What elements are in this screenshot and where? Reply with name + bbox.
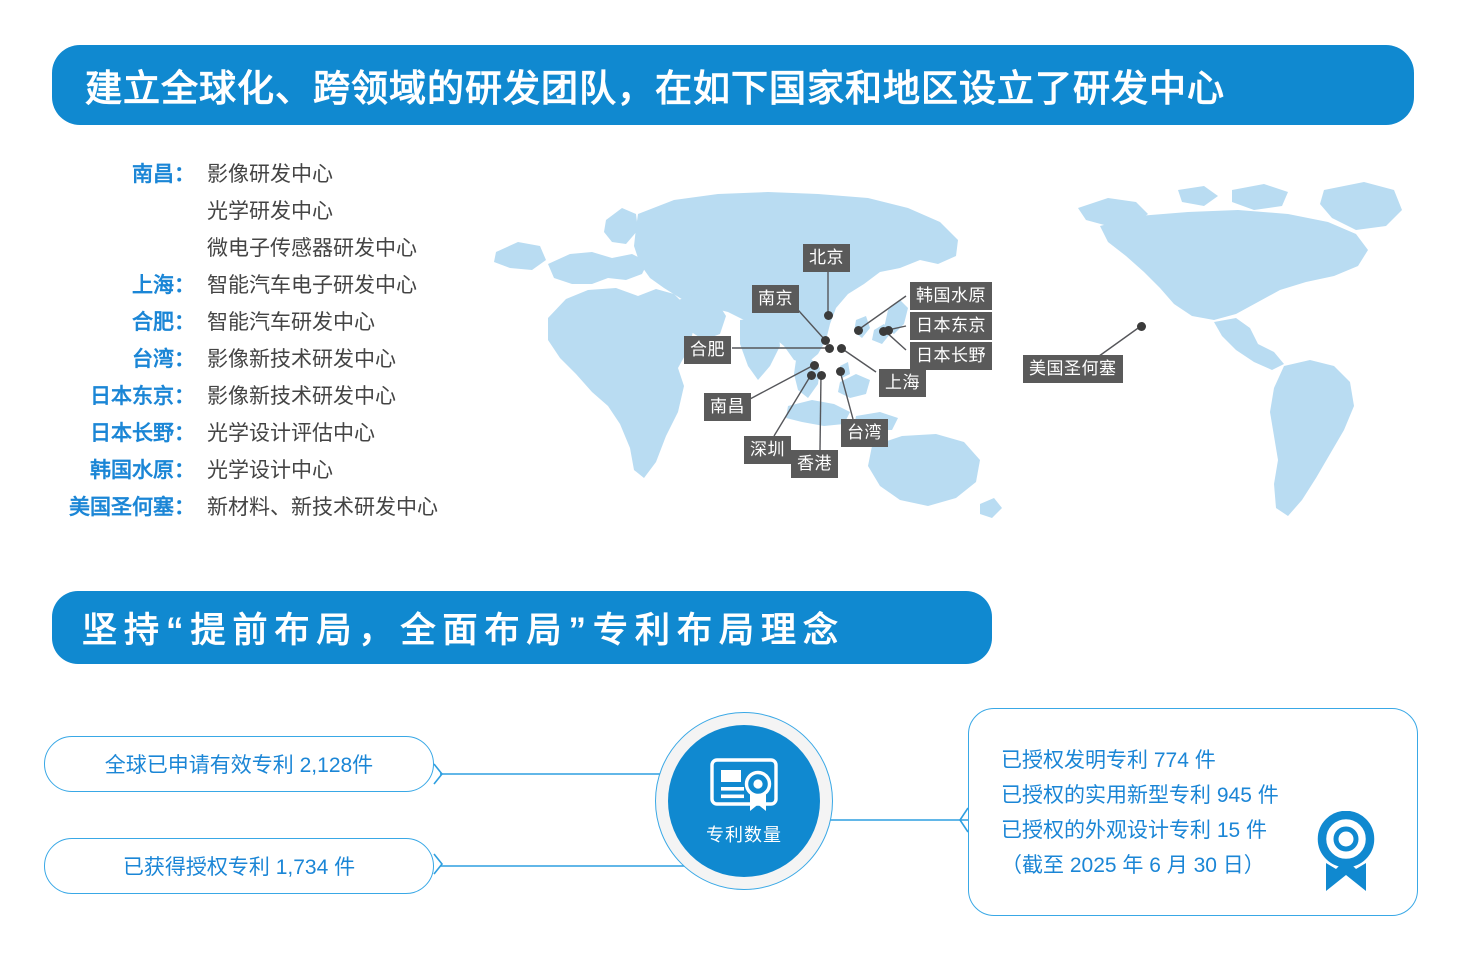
rd-city: 美国圣何塞： bbox=[40, 489, 195, 526]
world-map: 北京 南京 合肥 南昌 深圳 香港 台湾 上海 韩国水原 日本东京 日本长野 美… bbox=[488, 168, 1433, 572]
patent-detail-lines: 已授权发明专利 774 件 已授权的实用新型专利 945 件 已授权的外观设计专… bbox=[1001, 743, 1279, 883]
rd-center: 智能汽车电子研发中心 bbox=[207, 267, 417, 304]
patent-detail-line: （截至 2025 年 6 月 30 日） bbox=[1001, 848, 1279, 883]
patent-detail-line: 已授权的实用新型专利 945 件 bbox=[1001, 778, 1279, 813]
map-dot-hongkong bbox=[817, 371, 826, 380]
medal-icon bbox=[1313, 811, 1379, 893]
rd-center: 微电子传感器研发中心 bbox=[207, 230, 417, 267]
applied-patents-pill[interactable]: 全球已申请有效专利 2,128件 bbox=[44, 736, 434, 792]
map-dot-taiwan bbox=[836, 367, 845, 376]
rd-center: 影像新技术研发中心 bbox=[207, 341, 396, 378]
map-dot-shenzhen bbox=[807, 371, 816, 380]
patent-banner: 坚持“提前布局，全面布局”专利布局理念 bbox=[52, 591, 992, 664]
patent-detail-card: 已授权发明专利 774 件 已授权的实用新型专利 945 件 已授权的外观设计专… bbox=[968, 708, 1418, 916]
map-dot-shanghai bbox=[837, 344, 846, 353]
applied-patents-label: 全球已申请有效专利 2,128件 bbox=[105, 749, 373, 779]
rd-city: 台湾： bbox=[40, 341, 195, 378]
map-dot-suwon bbox=[854, 326, 863, 335]
map-label-nanjing[interactable]: 南京 bbox=[752, 285, 799, 313]
patent-count-badge-label: 专利数量 bbox=[706, 821, 782, 847]
list-item: 合肥： 智能汽车研发中心 bbox=[40, 304, 510, 341]
list-item: 台湾： 影像新技术研发中心 bbox=[40, 341, 510, 378]
map-label-tokyo[interactable]: 日本东京 bbox=[910, 312, 992, 340]
list-item: 微电子传感器研发中心 bbox=[40, 230, 510, 267]
list-item: 美国圣何塞： 新材料、新技术研发中心 bbox=[40, 489, 510, 526]
rd-city: 日本长野： bbox=[40, 415, 195, 452]
list-item: 南昌： 影像研发中心 bbox=[40, 156, 510, 193]
rd-city: 合肥： bbox=[40, 304, 195, 341]
granted-patents-label: 已获得授权专利 1,734 件 bbox=[123, 851, 355, 881]
rd-center: 光学设计评估中心 bbox=[207, 415, 375, 452]
patent-detail-line: 已授权的外观设计专利 15 件 bbox=[1001, 813, 1279, 848]
rd-city: 日本东京： bbox=[40, 378, 195, 415]
page-title: 建立全球化、跨领域的研发团队，在如下国家和地区设立了研发中心 bbox=[85, 58, 1225, 112]
list-item: 日本长野： 光学设计评估中心 bbox=[40, 415, 510, 452]
rd-center: 影像研发中心 bbox=[207, 156, 333, 193]
infographic-page: 建立全球化、跨领域的研发团队，在如下国家和地区设立了研发中心 南昌： 影像研发中… bbox=[0, 0, 1459, 973]
map-dot-nanchang bbox=[810, 361, 819, 370]
rd-center: 影像新技术研发中心 bbox=[207, 378, 396, 415]
rd-center: 光学设计中心 bbox=[207, 452, 333, 489]
map-dot-hefei bbox=[825, 344, 834, 353]
map-label-hefei[interactable]: 合肥 bbox=[684, 336, 731, 364]
patent-detail-line: 已授权发明专利 774 件 bbox=[1001, 743, 1279, 778]
map-label-nagano[interactable]: 日本长野 bbox=[910, 342, 992, 370]
rd-center: 光学研发中心 bbox=[207, 193, 333, 230]
rd-city: 韩国水原： bbox=[40, 452, 195, 489]
rd-center-list: 南昌： 影像研发中心 光学研发中心 微电子传感器研发中心 上海： 智能汽车电子研… bbox=[40, 156, 510, 526]
map-label-beijing[interactable]: 北京 bbox=[803, 244, 850, 272]
patent-section: 全球已申请有效专利 2,128件 已获得授权专利 1,734 件 专利数量 bbox=[0, 690, 1459, 973]
map-dot-nagano bbox=[879, 327, 888, 336]
list-item: 上海： 智能汽车电子研发中心 bbox=[40, 267, 510, 304]
map-label-shanghai[interactable]: 上海 bbox=[879, 369, 926, 397]
certificate-icon bbox=[708, 756, 780, 814]
patent-count-badge[interactable]: 专利数量 bbox=[655, 712, 833, 890]
header-banner: 建立全球化、跨领域的研发团队，在如下国家和地区设立了研发中心 bbox=[52, 45, 1414, 125]
rd-city: 上海： bbox=[40, 267, 195, 304]
list-item: 日本东京： 影像新技术研发中心 bbox=[40, 378, 510, 415]
map-label-sanjose[interactable]: 美国圣何塞 bbox=[1023, 355, 1123, 383]
map-label-shenzhen[interactable]: 深圳 bbox=[744, 436, 791, 464]
map-label-hongkong[interactable]: 香港 bbox=[791, 450, 838, 478]
map-label-taiwan[interactable]: 台湾 bbox=[841, 419, 888, 447]
patent-count-badge-inner: 专利数量 bbox=[668, 725, 820, 877]
map-dot-sanjose bbox=[1137, 322, 1146, 331]
map-label-suwon[interactable]: 韩国水原 bbox=[910, 282, 992, 310]
world-map-graphic bbox=[488, 168, 1433, 572]
map-dot-beijing bbox=[824, 311, 833, 320]
list-item: 光学研发中心 bbox=[40, 193, 510, 230]
patent-banner-title: 坚持“提前布局，全面布局”专利布局理念 bbox=[82, 602, 845, 653]
rd-center: 智能汽车研发中心 bbox=[207, 304, 375, 341]
list-item: 韩国水原： 光学设计中心 bbox=[40, 452, 510, 489]
map-label-nanchang[interactable]: 南昌 bbox=[704, 393, 751, 421]
granted-patents-pill[interactable]: 已获得授权专利 1,734 件 bbox=[44, 838, 434, 894]
rd-center: 新材料、新技术研发中心 bbox=[207, 489, 438, 526]
rd-city: 南昌： bbox=[40, 156, 195, 193]
